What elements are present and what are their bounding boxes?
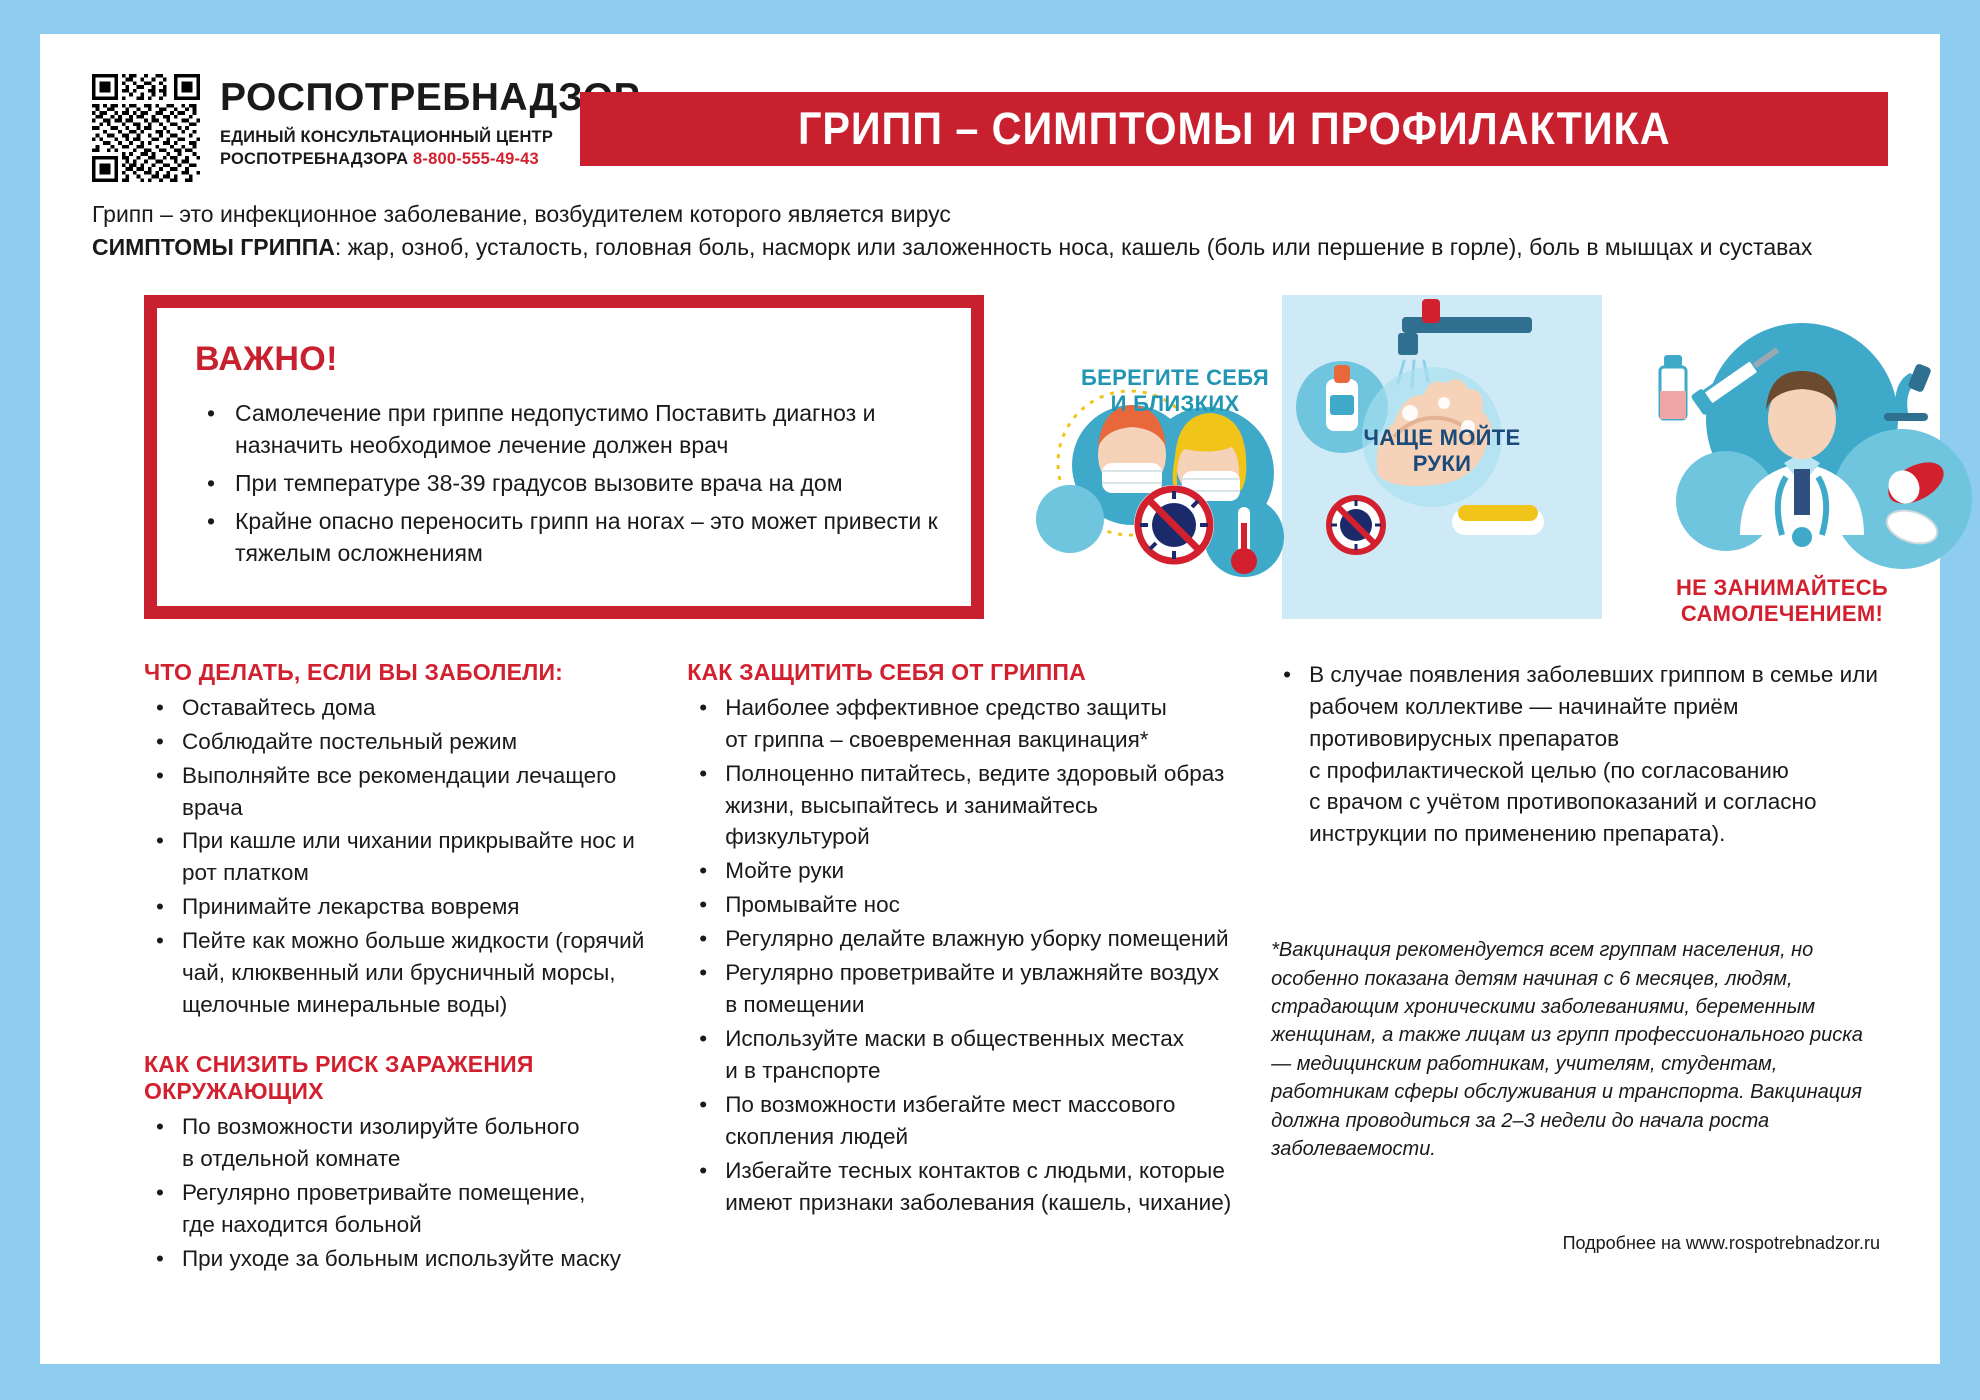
list-item: Избегайте тесных контактов с людьми, кот… [687, 1155, 1239, 1219]
important-list: Самолечение при гриппе недопустимо Поста… [195, 397, 941, 570]
list-how-to-protect: Наиболее эффективное средство защиты от … [687, 692, 1239, 1219]
intro-lead: Грипп – это инфекционное заболевание, во… [92, 198, 1888, 231]
hotline-phone[interactable]: 8-800-555-49-43 [413, 150, 539, 168]
important-box: ВАЖНО! Самолечение при гриппе недопустим… [144, 295, 984, 619]
poster-header: РОСПОТРЕБНАДЗОР ЕДИНЫЙ КОНСУЛЬТАЦИОННЫЙ … [92, 68, 1888, 176]
list-if-you-are-sick: Оставайтесь дома Соблюдайте постельный р… [144, 692, 669, 1021]
list-item: Принимайте лекарства вовремя [144, 891, 669, 923]
list-item: Выполняйте все рекомендации лечащего вра… [144, 760, 669, 824]
illustration-group: БЕРЕГИТЕ СЕБЯ И БЛИЗКИХ ЧАЩЕ МОЙТЕ РУКИ … [1012, 287, 1976, 623]
list-item: Наиболее эффективное средство защиты от … [687, 692, 1239, 756]
list-item: Пейте как можно больше жидкости (горячий… [144, 925, 669, 1021]
poster-root: РОСПОТРЕБНАДЗОР ЕДИНЫЙ КОНСУЛЬТАЦИОННЫЙ … [0, 0, 1980, 1400]
more-info-link[interactable]: Подробнее на www.rospotrebnadzor.ru [1271, 1233, 1888, 1254]
consultation-center-line1: ЕДИНЫЙ КОНСУЛЬТАЦИОННЫЙ ЦЕНТР [220, 126, 640, 148]
vaccination-footnote: *Вакцинация рекомендуется всем группам н… [1271, 936, 1888, 1163]
intro-text: Грипп – это инфекционное заболевание, во… [92, 198, 1888, 265]
list-item: Самолечение при гриппе недопустимо Поста… [195, 397, 941, 462]
column-what-to-do: ЧТО ДЕЛАТЬ, ЕСЛИ ВЫ ЗАБОЛЕЛИ: Оставайтес… [92, 659, 687, 1277]
label-no-self-medication: НЕ ЗАНИМАЙТЕСЬ САМОЛЕЧЕНИЕМ! [1612, 575, 1952, 628]
symptoms-line: СИМПТОМЫ ГРИППА: жар, озноб, усталость, … [92, 234, 1812, 260]
list-item: В случае появления заболевших гриппом в … [1271, 659, 1888, 851]
list-item: При кашле или чихании прикрывайте нос и … [144, 825, 669, 889]
label-wash-hands: ЧАЩЕ МОЙТЕ РУКИ [1312, 425, 1572, 478]
brand-block: РОСПОТРЕБНАДЗОР ЕДИНЫЙ КОНСУЛЬТАЦИОННЫЙ … [92, 68, 640, 182]
consultation-center-block: ЕДИНЫЙ КОНСУЛЬТАЦИОННЫЙ ЦЕНТР РОСПОТРЕБН… [220, 126, 640, 170]
doctor-illustration [1616, 287, 1976, 623]
list-item: Оставайтесь дома [144, 692, 669, 724]
content-columns: ЧТО ДЕЛАТЬ, ЕСЛИ ВЫ ЗАБОЛЕЛИ: Оставайтес… [92, 659, 1888, 1277]
title-banner: ГРИПП – СИМПТОМЫ И ПРОФИЛАКТИКА [580, 92, 1888, 166]
list-item: Регулярно проветривайте помещение, где н… [144, 1177, 669, 1241]
column-how-to-protect: КАК ЗАЩИТИТЬ СЕБЯ ОТ ГРИППА Наиболее эфф… [687, 659, 1261, 1277]
protect-yourself-illustration [1012, 287, 1312, 623]
page-title: ГРИПП – СИМПТОМЫ И ПРОФИЛАКТИКА [798, 103, 1671, 155]
list-item: Используйте маски в общественных местах … [687, 1023, 1239, 1087]
section-heading-if-you-are-sick: ЧТО ДЕЛАТЬ, ЕСЛИ ВЫ ЗАБОЛЕЛИ: [144, 659, 669, 686]
column-antiviral-and-footnote: В случае появления заболевших гриппом в … [1261, 659, 1888, 1277]
symptoms-text: : жар, озноб, усталость, головная боль, … [335, 234, 1813, 260]
list-item: Регулярно делайте влажную уборку помещен… [687, 923, 1239, 955]
important-heading: ВАЖНО! [195, 340, 941, 379]
label-protect-yourself: БЕРЕГИТЕ СЕБЯ И БЛИЗКИХ [1060, 365, 1290, 418]
list-item: Соблюдайте постельный режим [144, 726, 669, 758]
consultation-center-line2: РОСПОТРЕБНАДЗОРА 8-800-555-49-43 [220, 148, 640, 170]
list-item: При уходе за больным используйте маску [144, 1243, 669, 1275]
symptoms-label: СИМПТОМЫ ГРИППА [92, 234, 335, 260]
list-item: Промывайте нос [687, 889, 1239, 921]
list-antiviral: В случае появления заболевших гриппом в … [1271, 659, 1888, 851]
list-item: Полноценно питайтесь, ведите здоровый об… [687, 758, 1239, 854]
list-item: Крайне опасно переносить грипп на ногах … [195, 505, 941, 570]
organization-name: РОСПОТРЕБНАДЗОР [220, 78, 640, 117]
list-reduce-risk: По возможности изолируйте больного в отд… [144, 1111, 669, 1275]
list-item: Мойте руки [687, 855, 1239, 887]
section-heading-reduce-risk: КАК СНИЗИТЬ РИСК ЗАРАЖЕНИЯ ОКРУЖАЮЩИХ [144, 1051, 669, 1105]
qr-code-icon [92, 74, 200, 182]
brand-text-block: РОСПОТРЕБНАДЗОР ЕДИНЫЙ КОНСУЛЬТАЦИОННЫЙ … [220, 74, 640, 170]
section-heading-how-to-protect: КАК ЗАЩИТИТЬ СЕБЯ ОТ ГРИППА [687, 659, 1239, 686]
poster-sheet: РОСПОТРЕБНАДЗОР ЕДИНЫЙ КОНСУЛЬТАЦИОННЫЙ … [40, 34, 1940, 1364]
list-item: По возможности избегайте мест массового … [687, 1089, 1239, 1153]
list-item: При температуре 38-39 градусов вызовите … [195, 467, 941, 500]
list-item: По возможности изолируйте больного в отд… [144, 1111, 669, 1175]
list-item: Регулярно проветривайте и увлажняйте воз… [687, 957, 1239, 1021]
middle-band: ВАЖНО! Самолечение при гриппе недопустим… [92, 295, 1888, 625]
